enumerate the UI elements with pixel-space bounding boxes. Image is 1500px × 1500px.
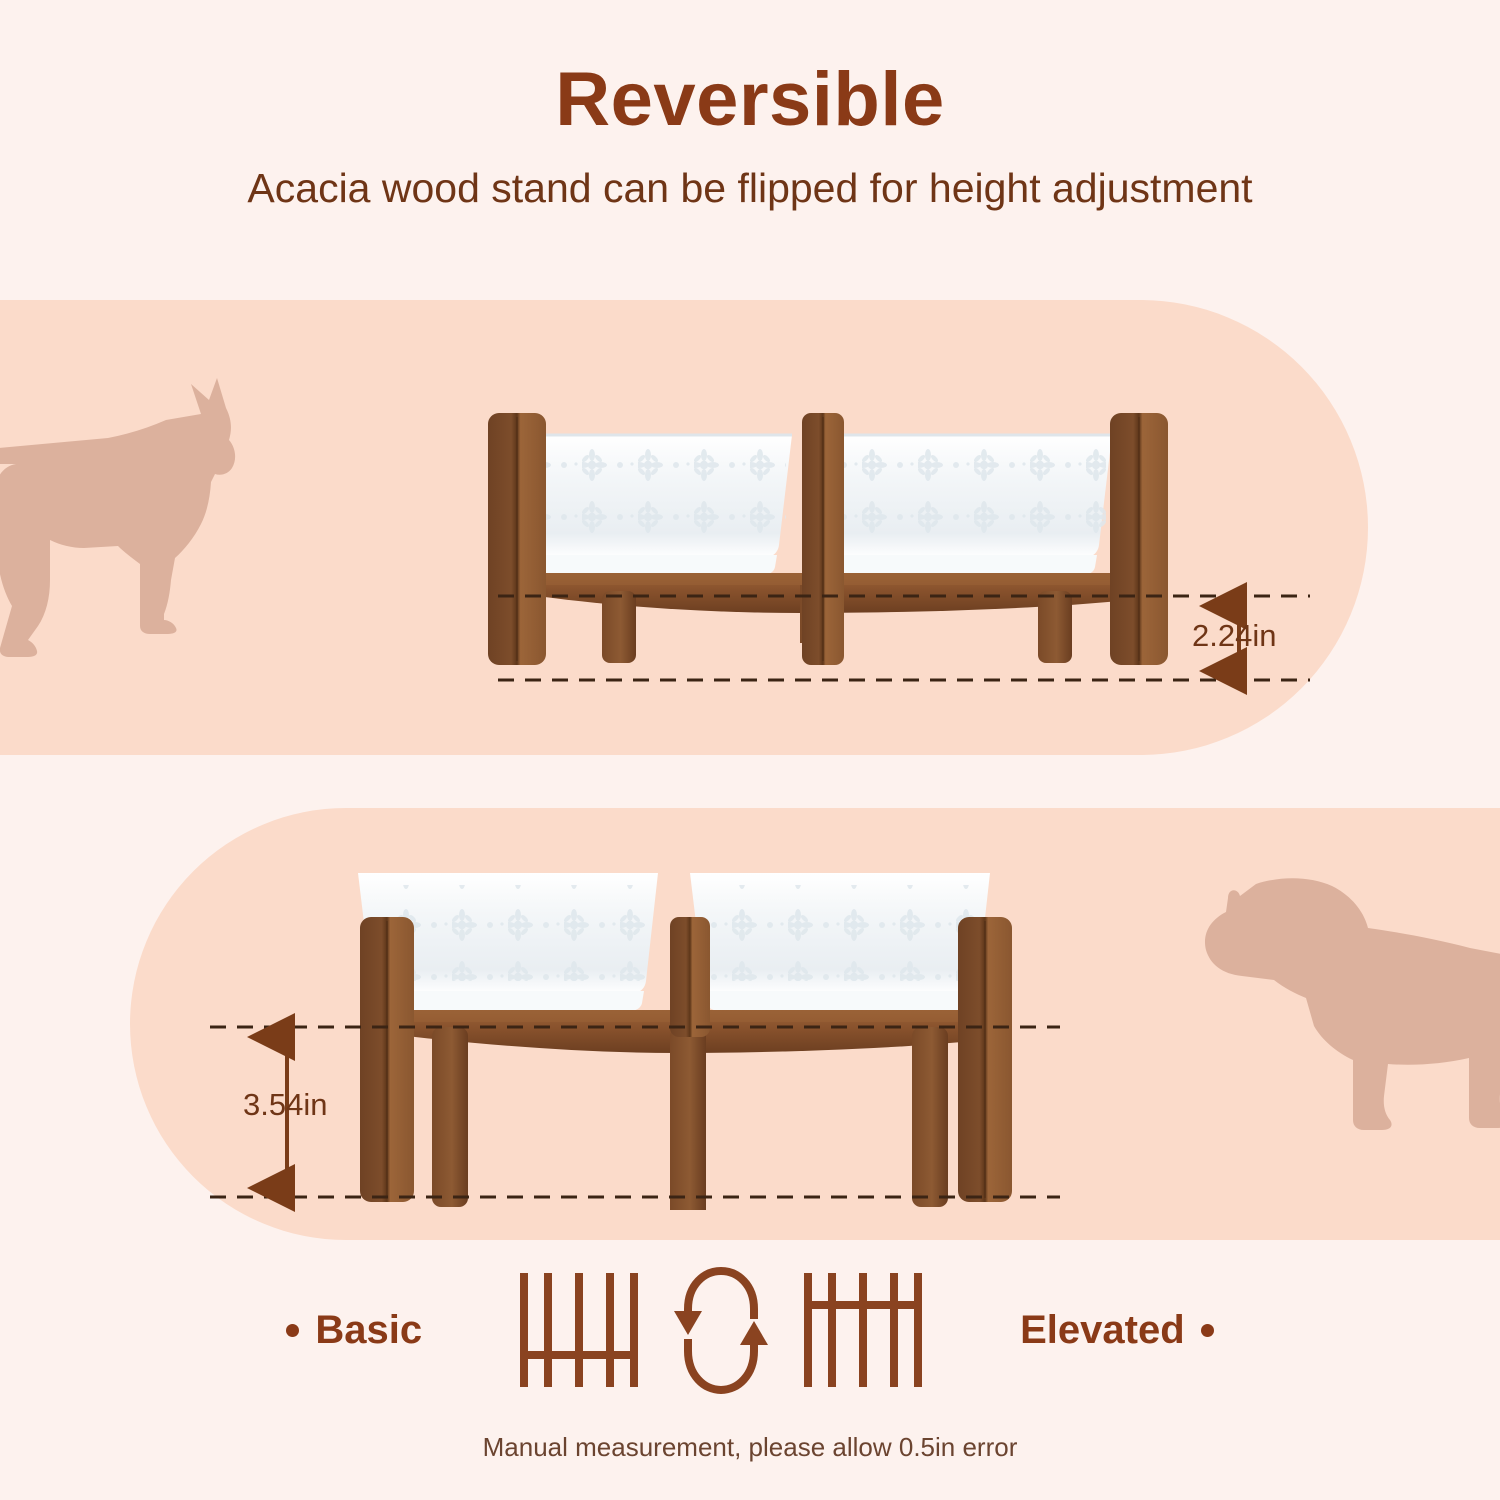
mode-basic: Basic xyxy=(286,1308,422,1353)
page-title: Reversible xyxy=(0,62,1500,138)
measurement-disclaimer: Manual measurement, please allow 0.5in e… xyxy=(0,1432,1500,1463)
infographic-page: Reversible Acacia wood stand can be flip… xyxy=(0,0,1500,1500)
dimension-label-basic: 2.24in xyxy=(1192,618,1276,654)
stand-elevated-illustration xyxy=(340,855,1060,1210)
stand-basic-illustration xyxy=(470,395,1190,685)
header: Reversible Acacia wood stand can be flip… xyxy=(0,0,1500,290)
dog-silhouette xyxy=(1170,862,1500,1172)
flip-rotate-icon xyxy=(666,1263,776,1398)
bullet-dot-icon xyxy=(286,1324,299,1337)
bullet-dot-icon xyxy=(1201,1324,1214,1337)
mode-elevated-label: Elevated xyxy=(1020,1308,1185,1353)
footer: Basic xyxy=(0,1250,1500,1500)
stand-basic-icon xyxy=(514,1269,644,1391)
page-subtitle: Acacia wood stand can be flipped for hei… xyxy=(0,168,1500,209)
mode-comparison-row: Basic xyxy=(0,1250,1500,1410)
cat-silhouette xyxy=(0,368,318,668)
mode-basic-label: Basic xyxy=(315,1308,422,1353)
stand-elevated-icon xyxy=(798,1269,928,1391)
dimension-label-elevated: 3.54in xyxy=(243,1087,327,1123)
stand-legs-elevated xyxy=(432,1027,948,1210)
mode-elevated: Elevated xyxy=(1020,1308,1214,1353)
